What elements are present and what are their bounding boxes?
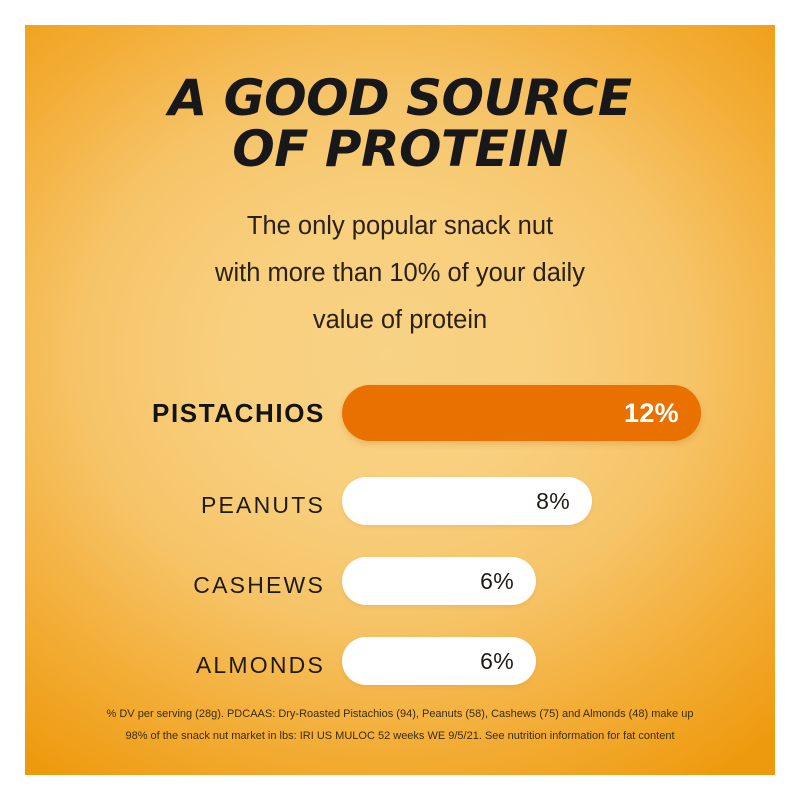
page-title-line-2: OF PROTEIN bbox=[25, 124, 775, 175]
chart-row-pistachios: PISTACHIOS 12% bbox=[25, 385, 775, 477]
chart-bar-cashews: 6% bbox=[342, 557, 536, 605]
page-subtitle-line-2: with more than 10% of your daily bbox=[120, 250, 680, 297]
chart-bar-almonds: 6% bbox=[342, 637, 536, 685]
chart-value-almonds: 6% bbox=[480, 637, 514, 685]
chart-bar-peanuts: 8% bbox=[342, 477, 592, 525]
chart-value-cashews: 6% bbox=[480, 557, 514, 605]
page-subtitle-line-1: The only popular snack nut bbox=[120, 203, 680, 250]
chart-row-peanuts: PEANUTS 8% bbox=[25, 477, 775, 557]
footnote-line-1: % DV per serving (28g). PDCAAS: Dry-Roas… bbox=[25, 703, 775, 725]
chart-bar-pistachios: 12% bbox=[342, 385, 701, 441]
page-title: A GOOD SOURCE OF PROTEIN bbox=[25, 73, 775, 175]
chart-row-label-almonds: ALMONDS bbox=[196, 637, 325, 693]
chart-value-pistachios: 12% bbox=[624, 385, 679, 441]
protein-infographic: A GOOD SOURCE OF PROTEIN The only popula… bbox=[25, 25, 775, 775]
page-title-line-1: A GOOD SOURCE bbox=[25, 73, 775, 124]
footnote-line-2: 98% of the snack nut market in lbs: IRI … bbox=[25, 725, 775, 747]
chart-row-cashews: CASHEWS 6% bbox=[25, 557, 775, 637]
protein-bar-chart: PISTACHIOS 12% PEANUTS 8% CASHEWS 6% ALM… bbox=[25, 385, 775, 717]
chart-row-label-pistachios: PISTACHIOS bbox=[152, 385, 325, 441]
page-subtitle-line-3: value of protein bbox=[120, 297, 680, 344]
chart-row-label-cashews: CASHEWS bbox=[193, 557, 325, 613]
chart-value-peanuts: 8% bbox=[536, 477, 570, 525]
footnote: % DV per serving (28g). PDCAAS: Dry-Roas… bbox=[25, 703, 775, 747]
chart-row-label-peanuts: PEANUTS bbox=[201, 477, 325, 533]
page-subtitle: The only popular snack nut with more tha… bbox=[120, 203, 680, 344]
